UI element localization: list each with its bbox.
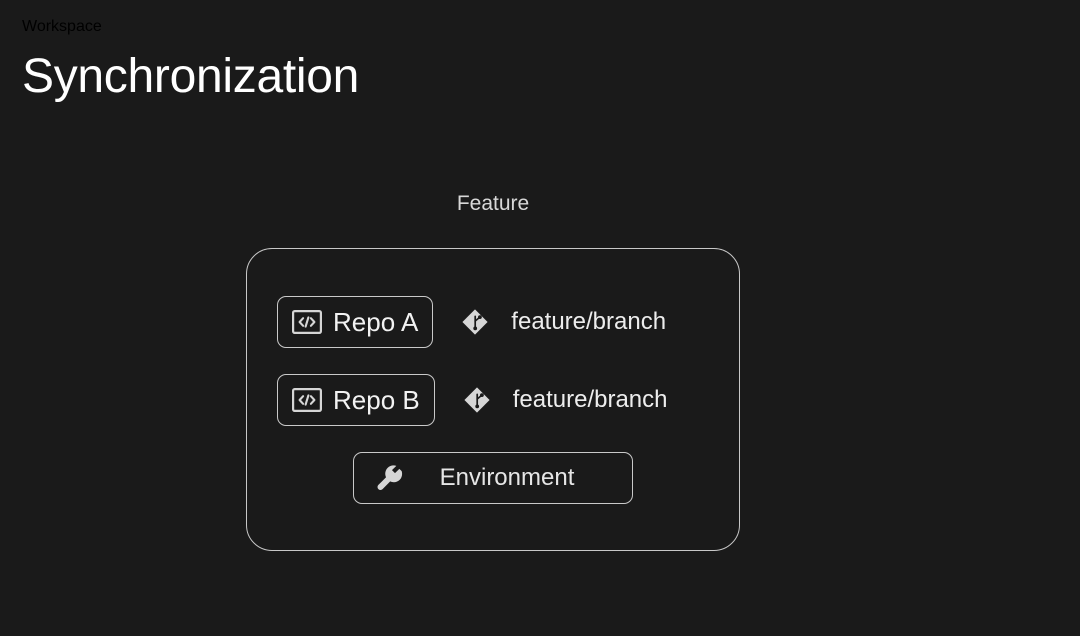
repo-row: Repo B feature/branch (247, 374, 739, 426)
environment-pill-label: Environment (404, 463, 610, 493)
repo-pill-label: Repo A (333, 307, 418, 337)
repo-pill-label: Repo B (333, 385, 420, 415)
sync-diagram: Feature Repo A (246, 190, 740, 218)
git-branch-icon (463, 386, 491, 414)
repo-row: Repo A feature/branch (247, 296, 739, 348)
repo-pill-b[interactable]: Repo B (277, 374, 435, 426)
page-header: Workspace Synchronization (22, 18, 359, 108)
git-branch-icon (461, 308, 489, 336)
wrench-icon (376, 464, 404, 492)
feature-group-card: Repo A feature/branch (246, 248, 740, 551)
breadcrumb-eyebrow: Workspace (22, 18, 359, 36)
repo-pill-a[interactable]: Repo A (277, 296, 433, 348)
code-icon (292, 310, 322, 334)
page-title: Synchronization (22, 46, 359, 108)
branch-label: feature/branch (511, 308, 666, 336)
code-icon (292, 388, 322, 412)
branch-label: feature/branch (513, 386, 668, 414)
environment-row: Environment (247, 452, 739, 504)
feature-group-label: Feature (246, 190, 740, 218)
environment-pill[interactable]: Environment (353, 452, 633, 504)
